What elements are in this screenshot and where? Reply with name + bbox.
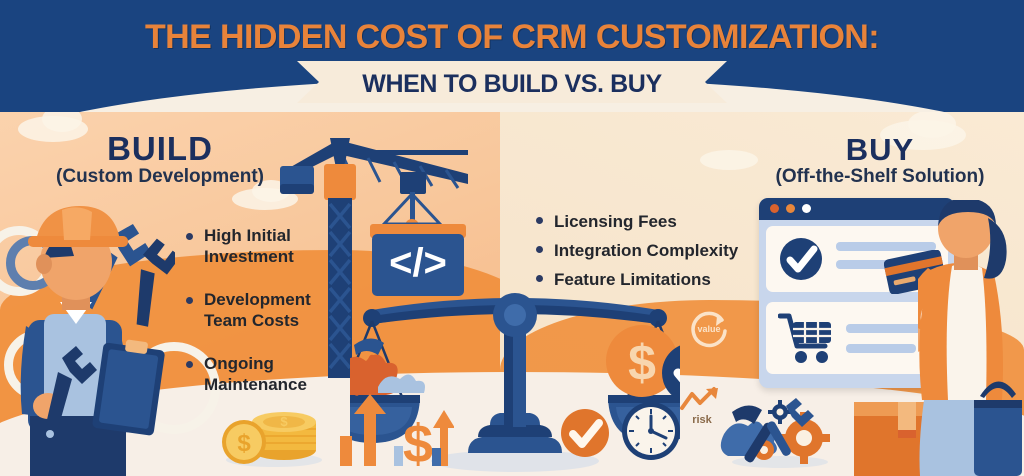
hammer-wrench-gears-icon [720, 398, 840, 468]
placeholder-line [846, 344, 916, 353]
list-item: Feature Limitations [536, 267, 756, 293]
buy-heading: BUY [770, 132, 990, 168]
buy-bullet-list: Licensing Fees Integration Complexity Fe… [536, 209, 756, 296]
subtitle-ribbon: WHEN TO BUILD VS. BUY [297, 61, 727, 103]
clock-icon [620, 400, 682, 462]
browser-dot-minimize [786, 204, 795, 213]
list-item: Integration Complexity [536, 238, 756, 264]
list-item: Licensing Fees [536, 209, 756, 235]
checkmark-badge-icon [778, 236, 824, 287]
page-subtitle: WHEN TO BUILD VS. BUY [297, 70, 727, 99]
buy-subheading: (Off-the-Shelf Solution) [730, 166, 1024, 188]
svg-text:$: $ [628, 335, 656, 391]
orange-checkmark-icon [560, 408, 610, 458]
infographic-canvas: THE HIDDEN COST OF CRM CUSTOMIZATION: WH… [0, 0, 1024, 476]
svg-text:$: $ [403, 414, 433, 470]
growth-arrows-icon: $ [336, 392, 454, 470]
browser-dot-close [770, 204, 779, 213]
shopper-woman-illustration [918, 200, 1024, 476]
value-badge: value [686, 306, 732, 352]
value-badge-label: value [686, 324, 732, 334]
shopping-cart-icon [778, 312, 834, 369]
browser-dot-maximize [802, 204, 811, 213]
gold-coins-icon: $ $ [218, 398, 330, 468]
svg-text:$: $ [237, 430, 251, 457]
svg-text:$: $ [280, 414, 288, 429]
page-title: THE HIDDEN COST OF CRM CUSTOMIZATION: [0, 18, 1024, 57]
construction-worker-illustration [0, 196, 175, 476]
build-heading: BUILD [40, 130, 280, 168]
